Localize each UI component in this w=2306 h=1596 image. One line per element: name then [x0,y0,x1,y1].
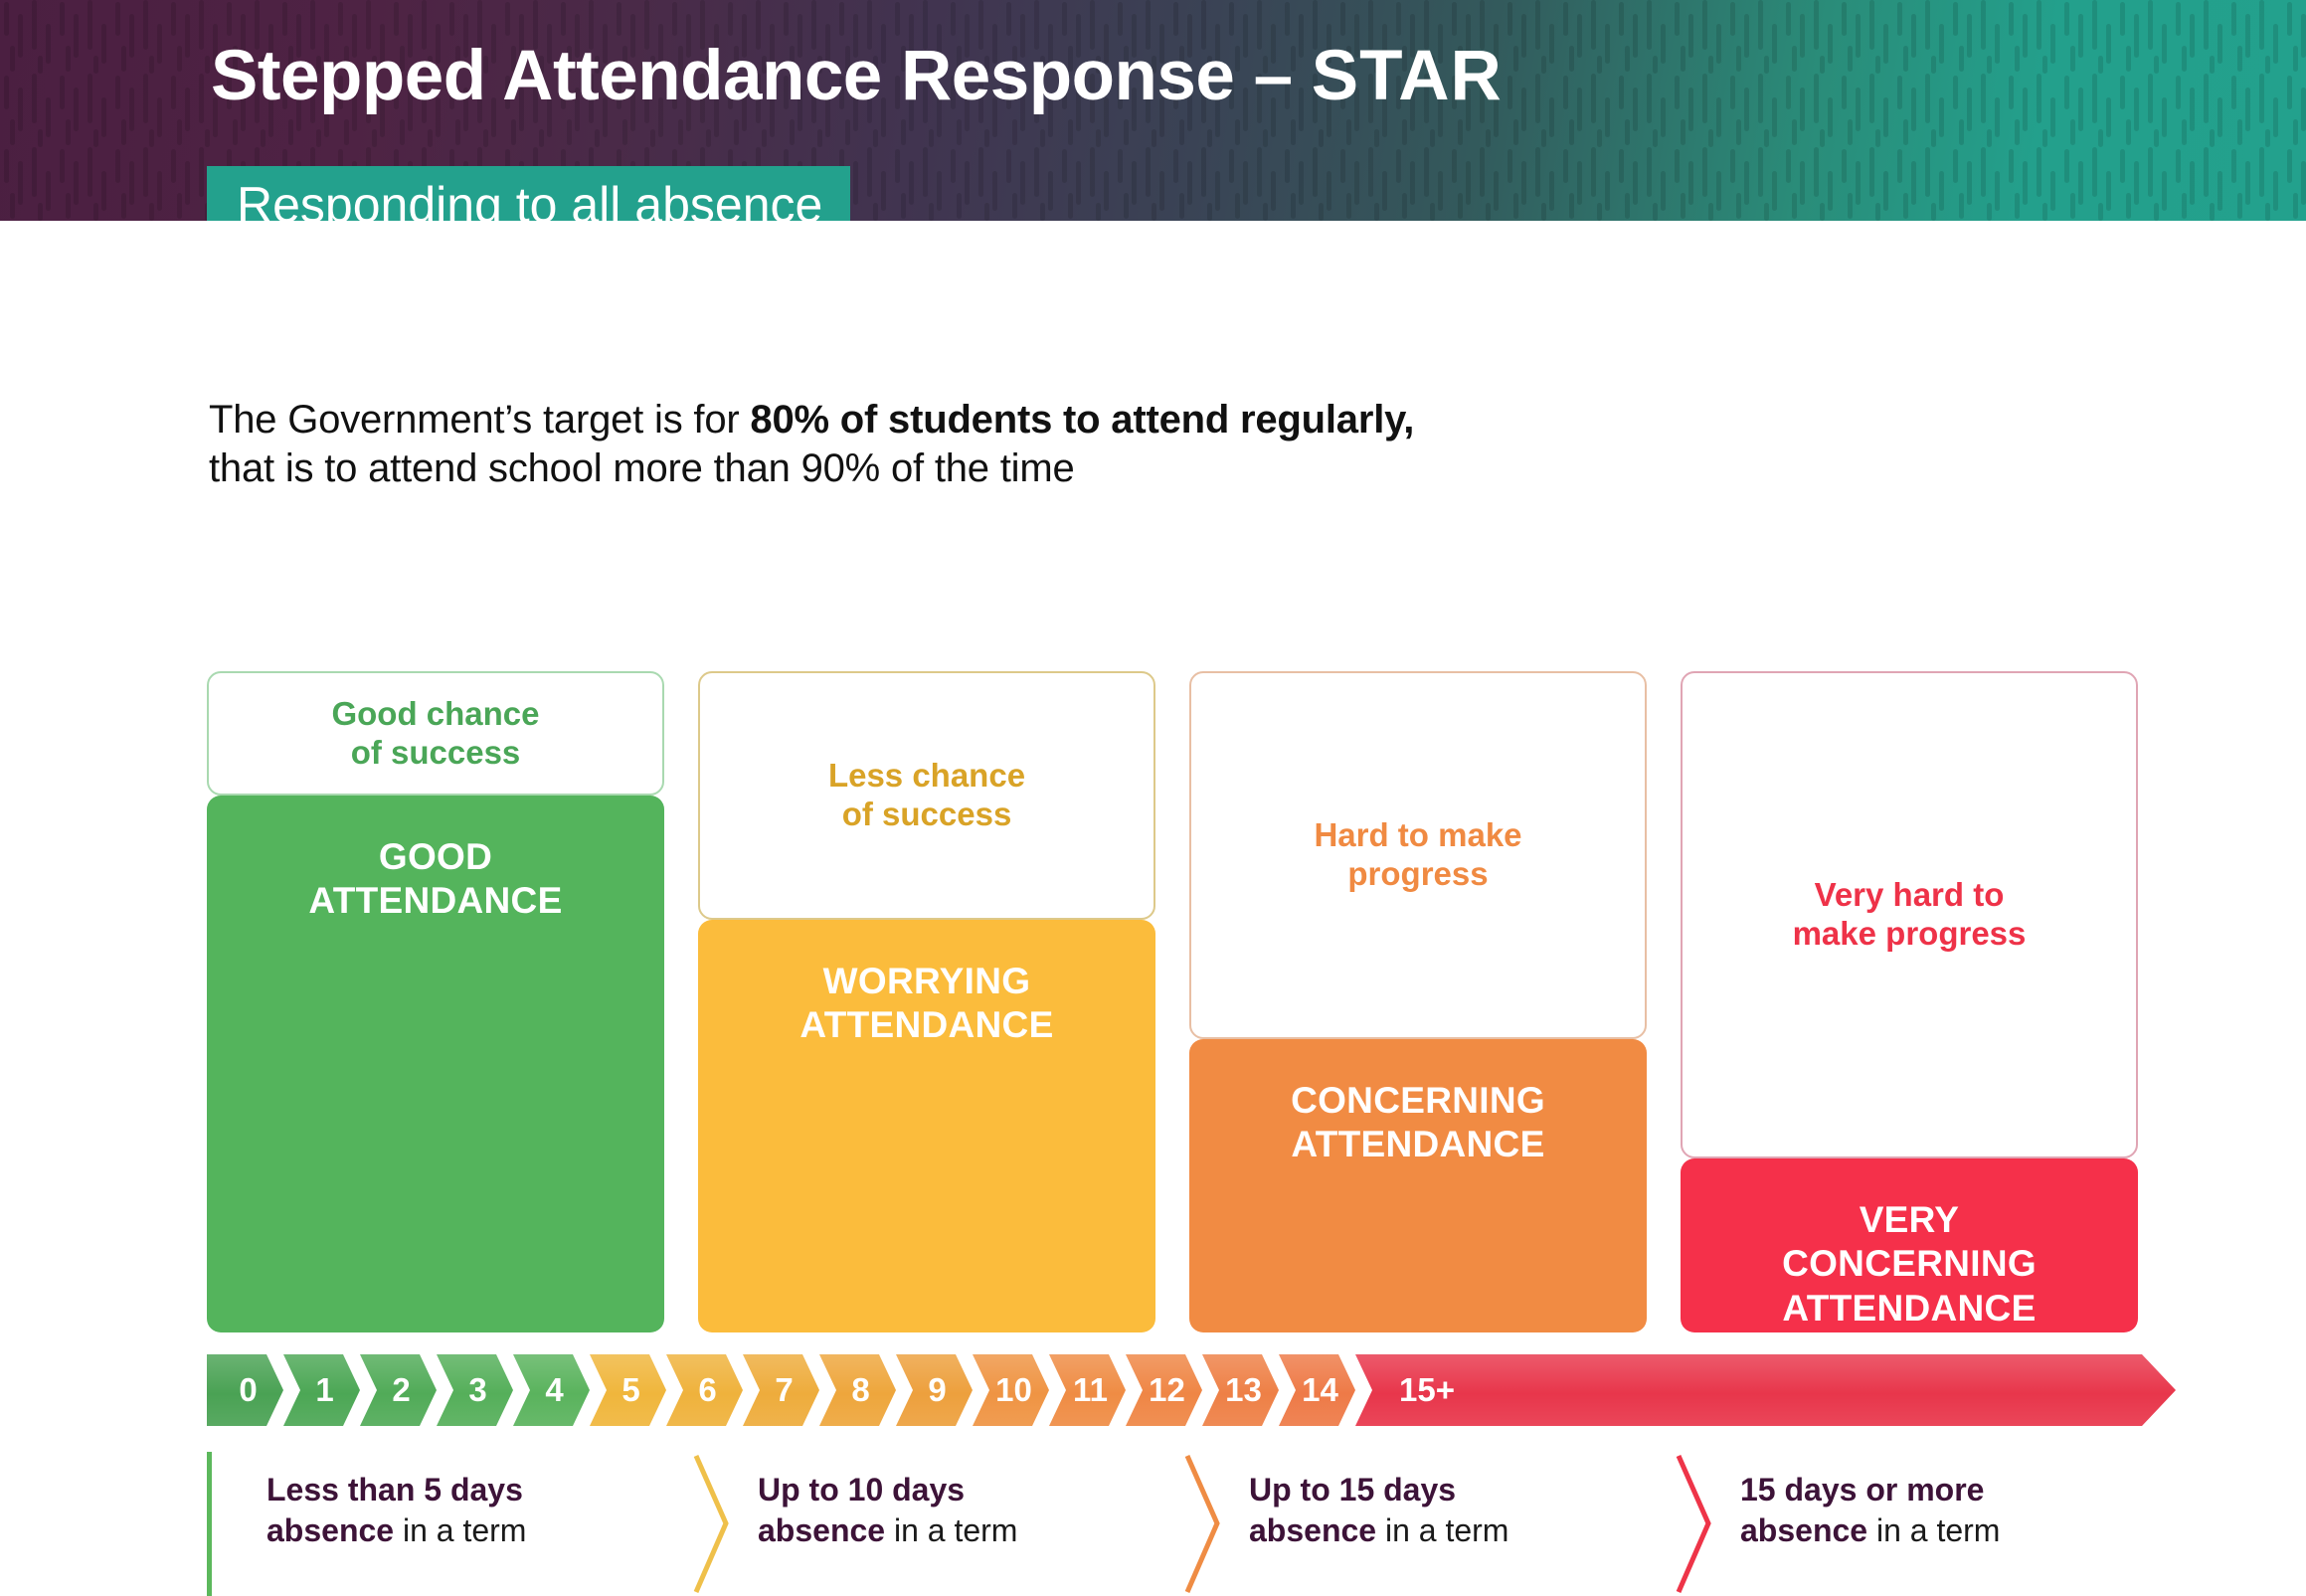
band-caption-line1: Up to 15 days [1249,1470,1508,1510]
band-bar: WORRYINGATTENDANCE [698,920,1155,1332]
day-step-label: 2 [392,1371,410,1408]
band-caption: 15 days or moreabsence in a term [1740,1470,2000,1551]
band-outline-label-line1: Good chance [331,695,539,734]
band-outline-label-line1: Very hard to [1793,876,2027,915]
band-caption-line1: Up to 10 days [758,1470,1017,1510]
band-bar-label-line2: ATTENDANCE [799,1003,1053,1047]
day-step-label: 4 [545,1371,564,1408]
band-caption-line2: absence in a term [1740,1510,2000,1551]
band-bar-label-line1: CONCERNING [1291,1079,1545,1123]
band-caption: Less than 5 daysabsence in a term [266,1470,526,1551]
band-bar-label: WORRYINGATTENDANCE [799,960,1053,1048]
band-caption: Up to 10 daysabsence in a term [758,1470,1017,1551]
day-step-label: 8 [851,1371,869,1408]
band-caption: Up to 15 daysabsence in a term [1249,1470,1508,1551]
band-outline-label-line2: make progress [1793,915,2027,954]
band-outline-card: Good chanceof success [207,671,664,796]
band-caption-line2: absence in a term [1249,1510,1508,1551]
band-bar-label-line1: VERY [1782,1198,2037,1242]
band-outline-card: Hard to makeprogress [1189,671,1647,1039]
band-bar-label-line2: ATTENDANCE [1291,1123,1545,1166]
caption-chevron-separator [1181,1452,1225,1596]
band-bar-label-line2: CONCERNING [1782,1242,2037,1286]
day-step-label: 5 [621,1371,639,1408]
day-step-label: 7 [775,1371,793,1408]
day-step-label: 6 [698,1371,716,1408]
band-outline-card: Less chanceof success [698,671,1155,920]
day-step-label: 14 [1302,1371,1338,1408]
band-outline-label-line2: of success [331,734,539,773]
band-outline-label-line1: Less chance [828,757,1025,796]
day-step-label: 0 [239,1371,257,1408]
day-step-label: 9 [928,1371,946,1408]
band-outline-label-line2: of success [828,796,1025,834]
day-step-label: 13 [1225,1371,1262,1408]
band-caption-line2: absence in a term [758,1510,1017,1551]
band-bar-label-line1: WORRYING [799,960,1053,1003]
day-step-label: 11 [1073,1371,1108,1408]
band-outline-label: Less chanceof success [828,757,1025,834]
band-bar: GOODATTENDANCE [207,796,664,1332]
band-bar: CONCERNINGATTENDANCE [1189,1039,1647,1332]
band-outline-card: Very hard tomake progress [1681,671,2138,1158]
band-outline-label: Good chanceof success [331,695,539,773]
band-caption-line2: absence in a term [266,1510,526,1551]
day-step-label: 3 [468,1371,486,1408]
band-bar-label: VERYCONCERNINGATTENDANCE [1782,1198,2037,1330]
band-outline-label: Hard to makeprogress [1314,816,1521,894]
day-step-label: 10 [995,1371,1032,1408]
day-step-label: 12 [1149,1371,1185,1408]
day-step-chevron [1355,1354,2176,1426]
band-bar: VERYCONCERNINGATTENDANCE [1681,1158,2138,1332]
caption-left-rule [207,1452,212,1596]
attendance-bands-chart: Good chanceof successGOODATTENDANCELess … [0,0,2306,1591]
caption-chevron-separator [690,1452,734,1596]
band-caption-line1: Less than 5 days [266,1470,526,1510]
caption-chevron-separator [1673,1452,1716,1596]
band-bar-label-line3: ATTENDANCE [1782,1287,2037,1330]
band-outline-label: Very hard tomake progress [1793,876,2027,954]
band-outline-label-line2: progress [1314,855,1521,894]
band-bar-label: GOODATTENDANCE [308,835,562,924]
band-outline-label-line1: Hard to make [1314,816,1521,855]
band-bar-label-line1: GOOD [308,835,562,879]
band-caption-line1: 15 days or more [1740,1470,2000,1510]
band-bar-label-line2: ATTENDANCE [308,879,562,923]
band-bar-label: CONCERNINGATTENDANCE [1291,1079,1545,1167]
day-step-label: 1 [315,1371,333,1408]
day-step-label: 15+ [1399,1371,1455,1408]
days-scale-strip: 0123456789101112131415+ [207,1354,2176,1426]
